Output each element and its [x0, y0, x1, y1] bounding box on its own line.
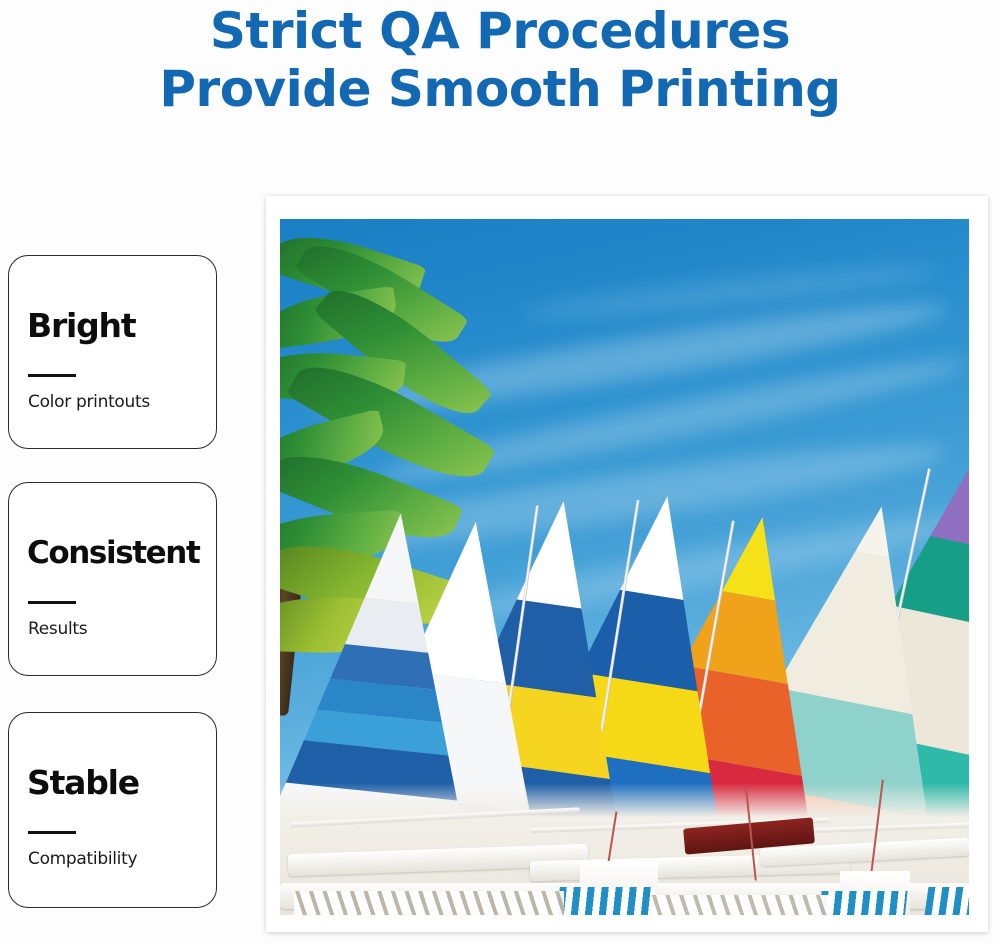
striped-beach-chair — [818, 891, 907, 915]
feature-divider — [28, 831, 76, 834]
feature-subtitle: Color printouts — [28, 391, 150, 413]
feature-subtitle: Results — [28, 618, 87, 640]
lounger-row — [294, 891, 564, 915]
feature-divider — [28, 601, 76, 604]
feature-title: Stable — [27, 765, 139, 801]
sailboats-photo — [280, 219, 969, 915]
feature-divider — [28, 374, 76, 377]
striped-beach-chair — [924, 887, 969, 915]
feature-card-consistent: Consistent Results — [8, 482, 217, 676]
feature-title: Consistent — [27, 535, 199, 571]
feature-card-stable: Stable Compatibility — [8, 712, 217, 908]
feature-subtitle: Compatibility — [28, 848, 137, 870]
page-title: Strict QA Procedures Provide Smooth Prin… — [0, 2, 1000, 118]
promo-page: Strict QA Procedures Provide Smooth Prin… — [0, 0, 1000, 945]
headline-line-2: Provide Smooth Printing — [0, 60, 1000, 118]
lounger-row — [650, 895, 830, 915]
feature-card-bright: Bright Color printouts — [8, 255, 217, 449]
feature-title: Bright — [27, 308, 135, 344]
striped-beach-chair — [556, 887, 656, 915]
headline-line-1: Strict QA Procedures — [0, 2, 1000, 60]
photo-frame — [266, 196, 988, 932]
